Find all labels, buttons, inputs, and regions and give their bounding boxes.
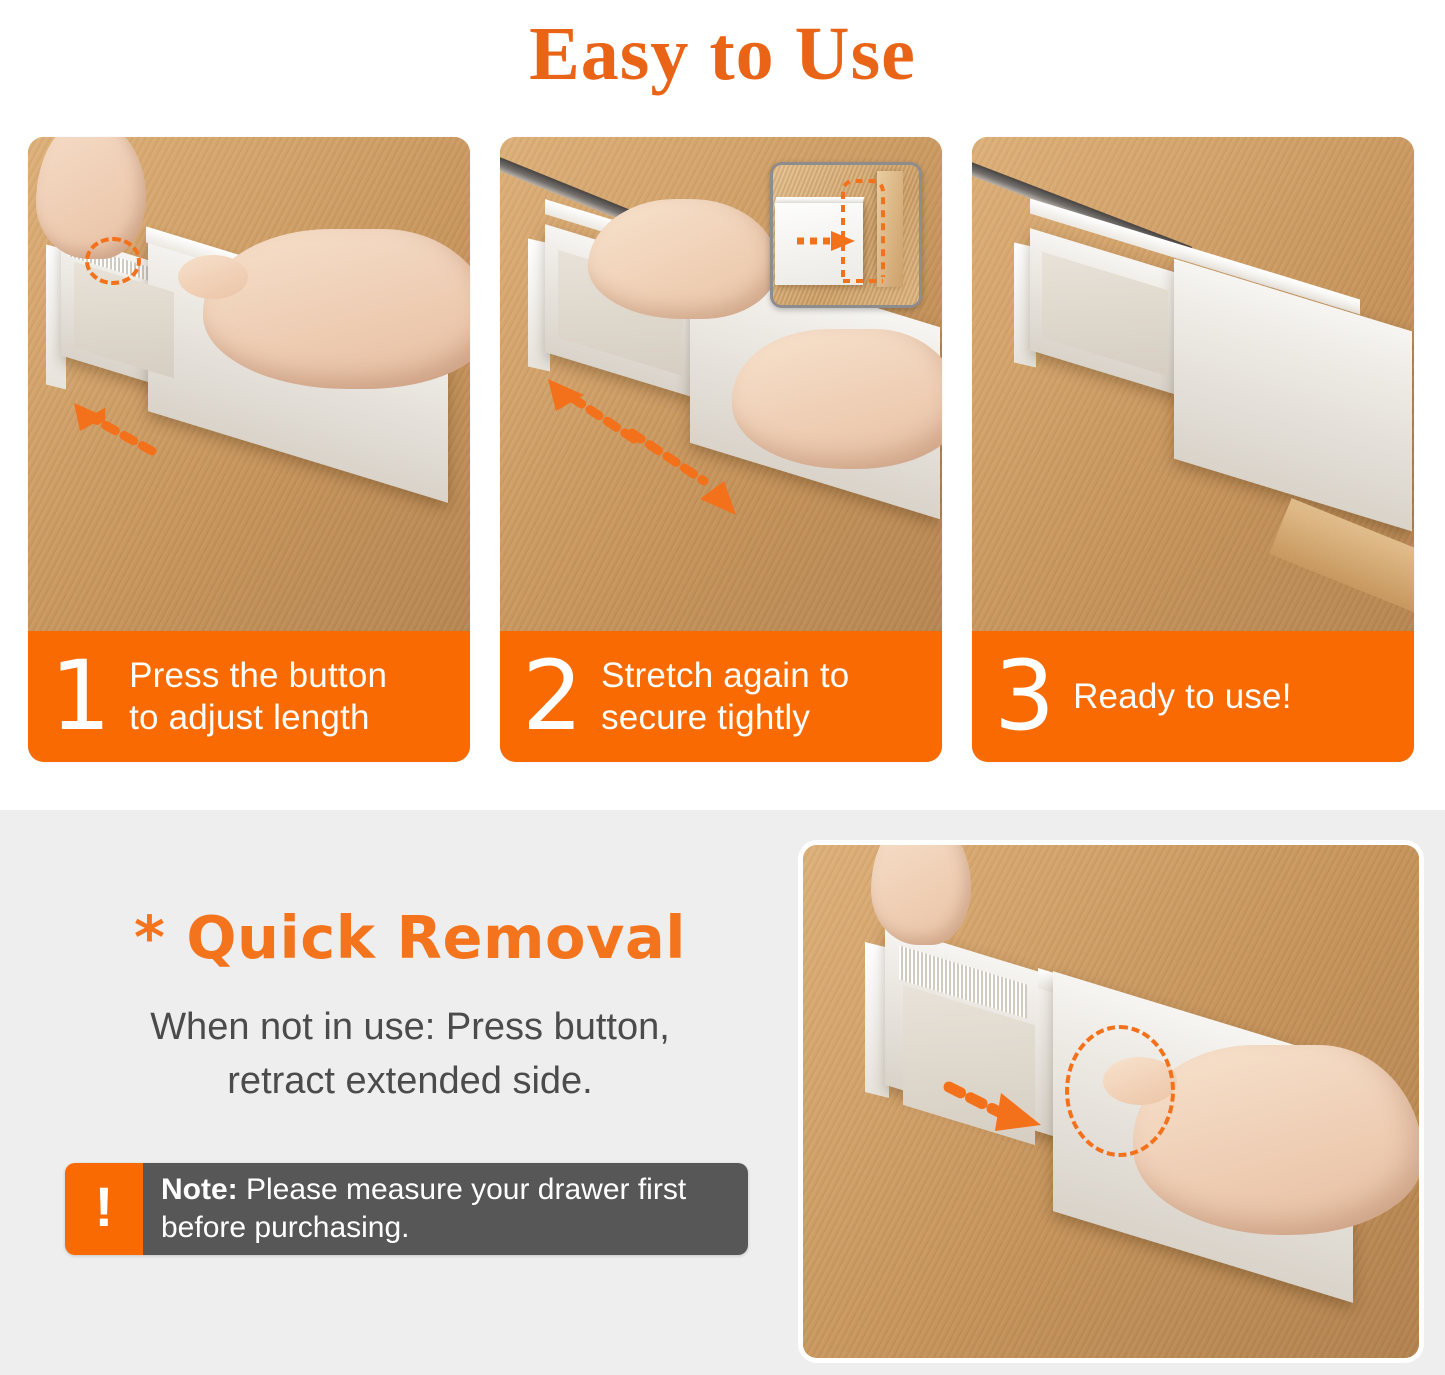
note-label: Note: bbox=[161, 1173, 238, 1206]
step-2-number: 2 bbox=[522, 654, 583, 738]
orange-dashed-circle-icon bbox=[85, 237, 141, 285]
quick-removal-subtitle: When not in use: Press button, retract e… bbox=[65, 1001, 755, 1109]
inset-orange-dashed-outline-icon bbox=[773, 165, 919, 305]
step-1-text-line2: to adjust length bbox=[129, 697, 387, 738]
step-3-number: 3 bbox=[994, 654, 1055, 738]
removal-photo-background bbox=[803, 845, 1419, 1358]
quick-removal-text-block: * Quick Removal When not in use: Press b… bbox=[65, 908, 755, 1109]
step-1-text: Press the button to adjust length bbox=[129, 655, 387, 738]
quick-removal-photo bbox=[803, 845, 1419, 1358]
exclamation-icon: ! bbox=[65, 1163, 143, 1255]
hand-right-grip bbox=[732, 329, 942, 469]
orange-dashed-arrow-right-icon bbox=[620, 419, 760, 529]
page-header: Easy to Use bbox=[0, 0, 1445, 103]
hand-left-pinch bbox=[588, 199, 778, 319]
note-text: Note: Please measure your drawer first b… bbox=[143, 1163, 748, 1255]
step-card-3: 3 Ready to use! bbox=[972, 137, 1414, 762]
steps-row: 1 Press the button to adjust length bbox=[28, 137, 1417, 762]
step-3-text-line1: Ready to use! bbox=[1073, 676, 1292, 717]
hand-right-fingertip bbox=[178, 255, 248, 299]
quick-removal-title: * Quick Removal bbox=[65, 908, 755, 967]
orange-dashed-circle-icon bbox=[1065, 1025, 1175, 1157]
hand-right-grip bbox=[203, 229, 470, 389]
note-message: Please measure your drawer first before … bbox=[161, 1173, 686, 1244]
step-2-text-line1: Stretch again to bbox=[601, 655, 849, 696]
quick-removal-subtitle-line1: When not in use: Press button, bbox=[65, 1001, 755, 1055]
hand-left-fingers bbox=[871, 845, 971, 945]
quick-removal-section: * Quick Removal When not in use: Press b… bbox=[0, 810, 1445, 1375]
step-1-text-line1: Press the button bbox=[129, 655, 387, 696]
step-3-text: Ready to use! bbox=[1073, 676, 1292, 717]
step-2-caption: 2 Stretch again to secure tightly bbox=[500, 631, 942, 762]
step-card-2: 2 Stretch again to secure tightly bbox=[500, 137, 942, 762]
inset-detail-box bbox=[770, 162, 922, 308]
hand-right-grip bbox=[1133, 1045, 1419, 1235]
page-title: Easy to Use bbox=[529, 16, 916, 92]
step-3-caption: 3 Ready to use! bbox=[972, 631, 1414, 762]
orange-arrow-right-icon bbox=[945, 1077, 1055, 1137]
step-1-caption: 1 Press the button to adjust length bbox=[28, 631, 470, 762]
step-2-text-line2: secure tightly bbox=[601, 697, 849, 738]
orange-dashed-arrow-left-icon bbox=[48, 387, 168, 467]
step-2-text: Stretch again to secure tightly bbox=[601, 655, 849, 738]
quick-removal-subtitle-line2: retract extended side. bbox=[65, 1055, 755, 1109]
step-card-1: 1 Press the button to adjust length bbox=[28, 137, 470, 762]
step-1-number: 1 bbox=[50, 654, 111, 738]
note-bar: ! Note: Please measure your drawer first… bbox=[65, 1163, 748, 1255]
